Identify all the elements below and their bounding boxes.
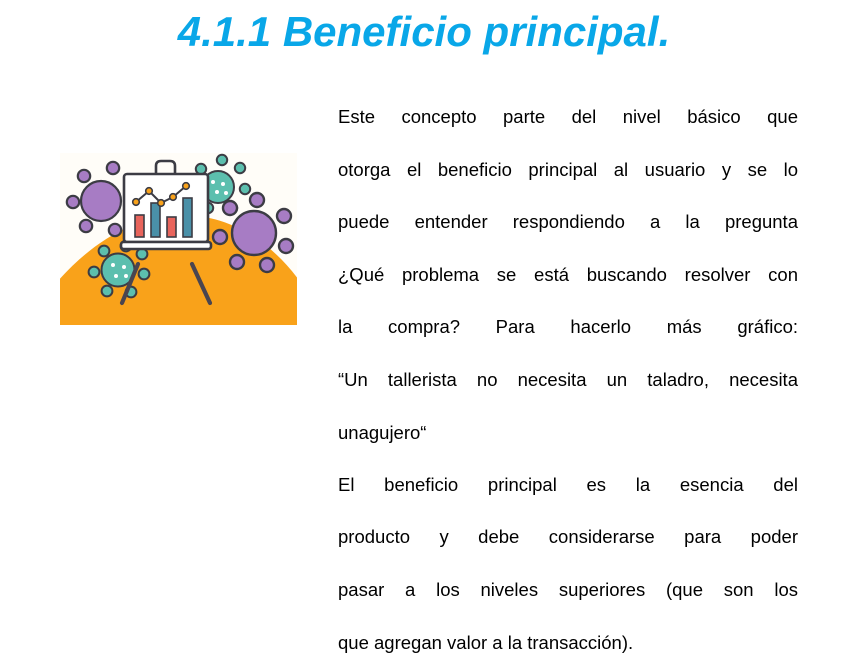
illustration [60,153,297,325]
chart-bar-4 [183,198,192,237]
paragraph-1-line-5: la compra? Para hacerlo más gráfico: [338,314,798,367]
chart-bar-1 [135,215,144,237]
paragraph-spacer [338,446,798,472]
chart-bar-3 [167,217,176,237]
paragraph-1: Este concepto parte del nivel básico que… [338,104,798,446]
paragraph-1-line-6: “Un tallerista no necesita un taladro, n… [338,367,798,420]
body-text-column: Este concepto parte del nivel básico que… [338,104,798,656]
paragraph-1-line-4: ¿Qué problema se está buscando resolver … [338,262,798,315]
presentation-board-illustration-svg [60,153,297,325]
paragraph-2-line-1: El beneficio principal es la esencia del [338,472,798,525]
paragraph-2-line-4: que agregan valor a la transacción). [338,630,798,656]
paragraph-1-line-1: Este concepto parte del nivel básico que [338,104,798,157]
paragraph-1-line-3: puede entender respondiendo a la pregunt… [338,209,798,262]
paragraph-2-line-2: producto y debe considerarse para poder [338,524,798,577]
paragraph-1-line-2: otorga el beneficio principal al usuario… [338,157,798,210]
paragraph-2: El beneficio principal es la esencia del… [338,472,798,656]
chart-bar-2 [151,203,160,237]
paragraph-2-line-3: pasar a los niveles superiores (que son … [338,577,798,630]
page-title: 4.1.1 Beneficio principal. [0,6,848,59]
paragraph-1-line-7: unagujero“ [338,420,798,446]
board-tray [121,242,211,249]
slide: 4.1.1 Beneficio principal. [0,0,848,477]
